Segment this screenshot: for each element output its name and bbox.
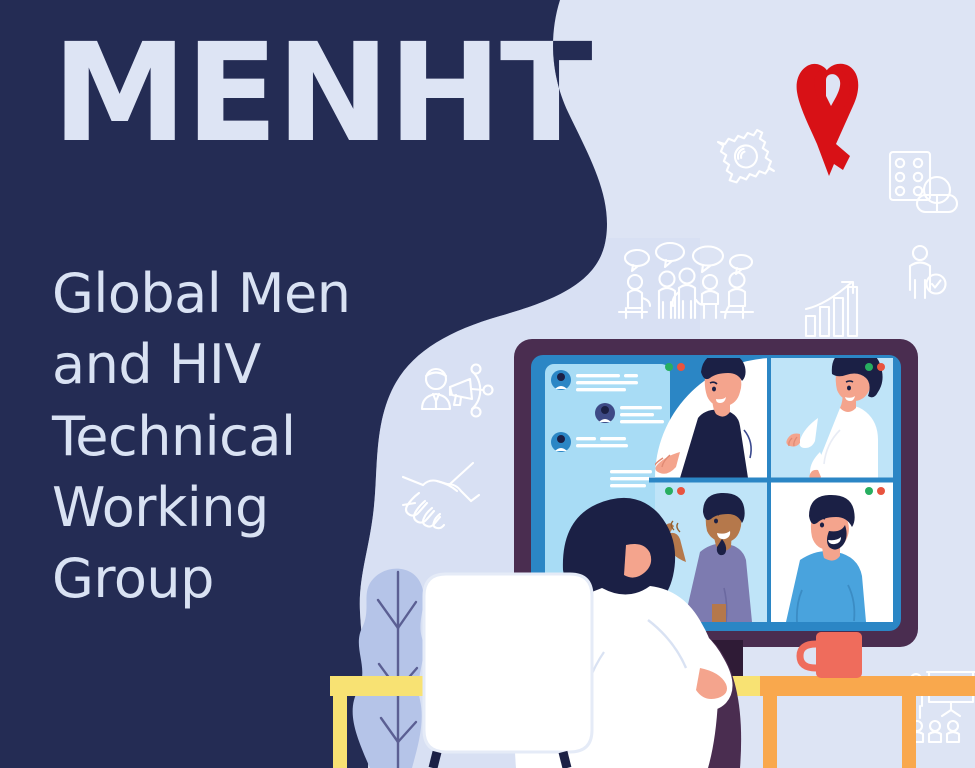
office-chair [424,574,592,768]
poster-canvas: MENHT MENHT Global Men and HIV Technical… [0,0,975,768]
subtitle-line: and HIV [52,329,412,400]
subtitle-line: Global Men [52,258,412,329]
call-tile-top-right [769,350,893,481]
subtitle-line: Technical [52,401,412,472]
call-tile-bottom-right [769,482,893,622]
subtitle-block: Global Men and HIV Technical Working Gro… [52,258,412,614]
subtitle-line: Group [52,543,412,614]
subtitle-line: Working [52,472,412,543]
